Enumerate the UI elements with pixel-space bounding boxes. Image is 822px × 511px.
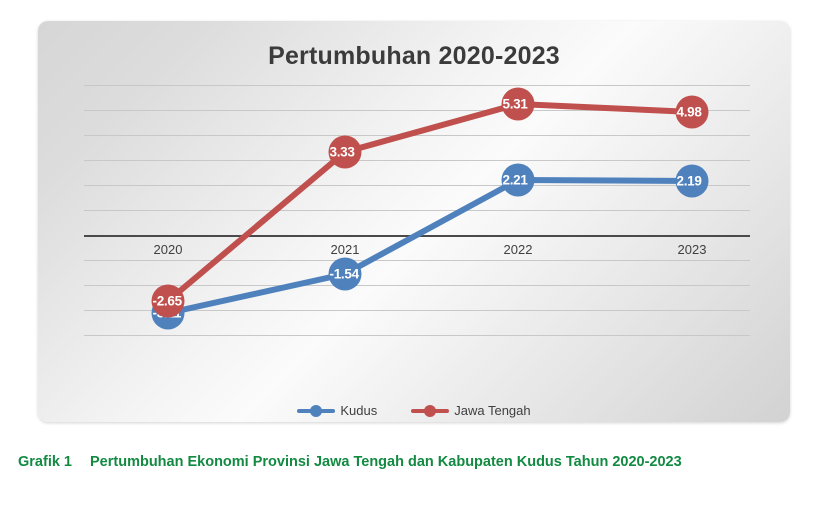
chart-title: Pertumbuhan 2020-2023 — [38, 42, 790, 71]
series-lines — [84, 85, 750, 377]
data-point-jawa-tengah-2022[interactable]: 5.31 — [502, 88, 535, 121]
chart-legend: Kudus Jawa Tengah — [38, 403, 790, 418]
data-point-kudus-2021[interactable]: -1.54 — [329, 258, 362, 291]
legend-label-kudus: Kudus — [340, 403, 377, 418]
x-tick-2022: 2022 — [504, 242, 533, 257]
legend-marker-icon-jawa-tengah — [411, 409, 449, 413]
series-line-jawa-tengah — [168, 104, 692, 301]
plot-area: 2020 2021 2022 2023 -3.11 -1.54 2.21 2.1… — [84, 85, 750, 377]
legend-label-jawa-tengah: Jawa Tengah — [454, 403, 530, 418]
data-point-kudus-2022[interactable]: 2.21 — [502, 164, 535, 197]
data-point-kudus-2023[interactable]: 2.19 — [676, 165, 709, 198]
figure-caption-label: Grafik 1 — [18, 452, 72, 473]
legend-item-kudus[interactable]: Kudus — [297, 403, 377, 418]
x-tick-2020: 2020 — [154, 242, 183, 257]
data-point-jawa-tengah-2020[interactable]: -2.65 — [152, 285, 185, 318]
figure-caption-text: Pertumbuhan Ekonomi Provinsi Jawa Tengah… — [90, 452, 780, 473]
x-tick-2023: 2023 — [678, 242, 707, 257]
series-line-kudus — [168, 180, 692, 313]
data-point-jawa-tengah-2023[interactable]: 4.98 — [676, 96, 709, 129]
x-tick-2021: 2021 — [331, 242, 360, 257]
legend-marker-icon-kudus — [297, 409, 335, 413]
figure-caption: Grafik 1 Pertumbuhan Ekonomi Provinsi Ja… — [18, 452, 808, 473]
data-point-jawa-tengah-2021[interactable]: 3.33 — [329, 136, 362, 169]
legend-item-jawa-tengah[interactable]: Jawa Tengah — [411, 403, 530, 418]
chart-card: Pertumbuhan 2020-2023 2020 2021 2022 202… — [38, 21, 790, 422]
